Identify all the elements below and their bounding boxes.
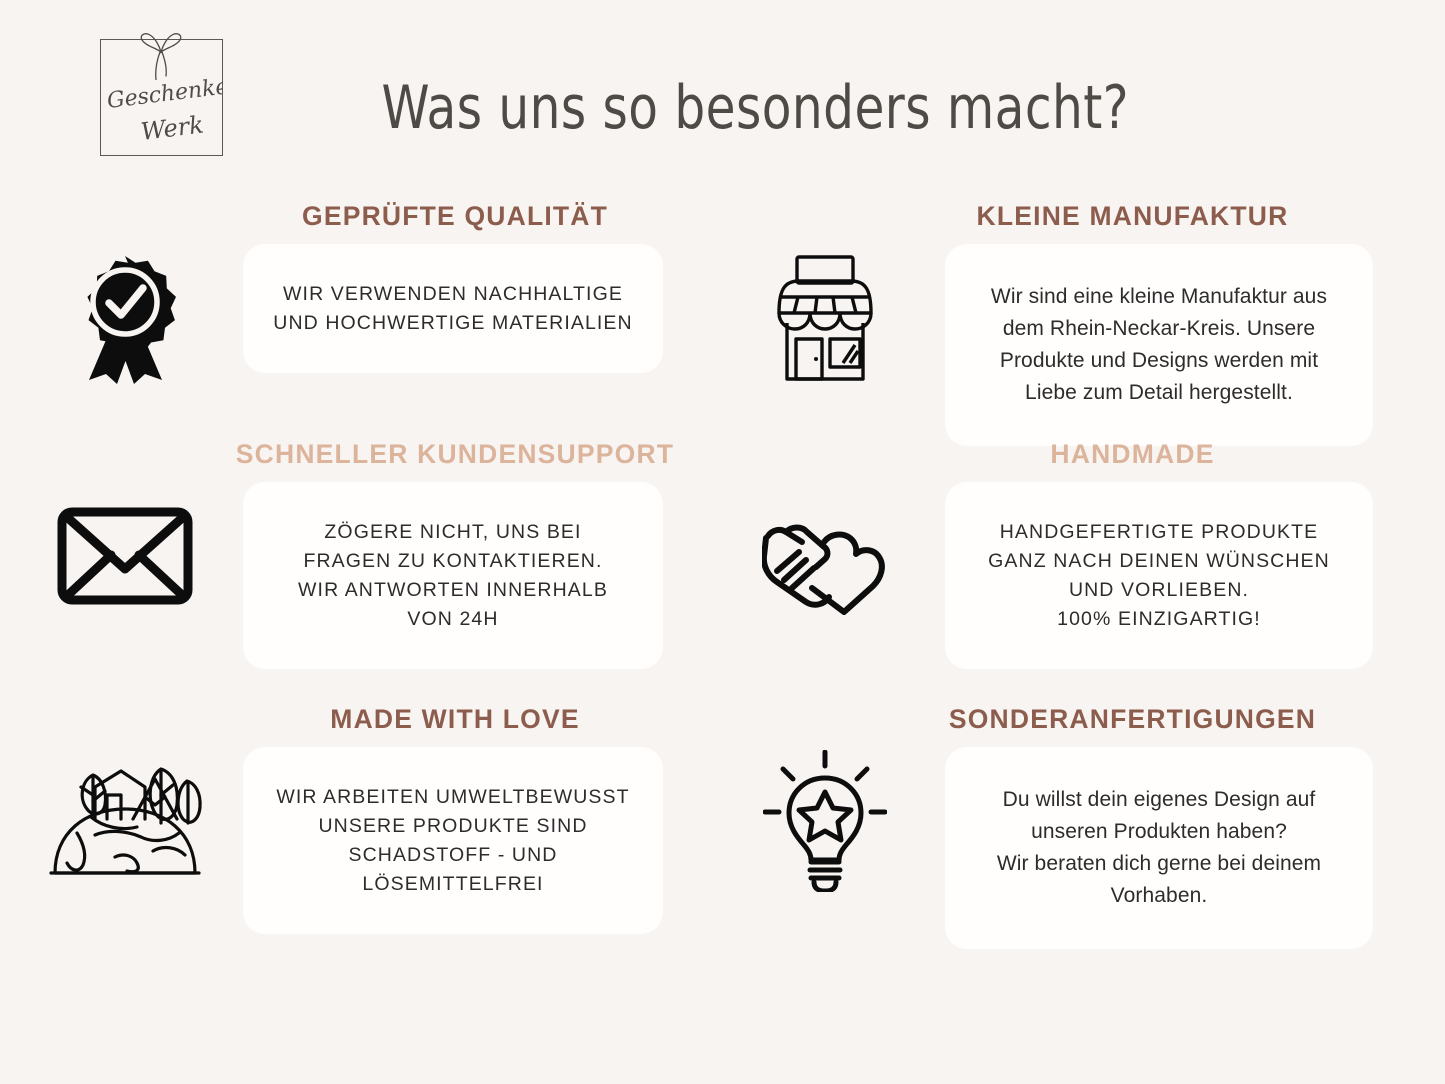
feature-kleine-manufaktur: KLEINE MANUFAKTUR [730,200,1385,392]
logo-text-line-1: Geschenke [106,74,223,114]
feature-card-gepruefte-qualitaet: WIR VERWENDEN NACHHALTIGE UND HOCHWERTIG… [243,244,663,373]
feature-sonderanfertigungen: SONDERANFERTIGUNGEN [730,703,1385,895]
feature-card-sonderanfertigungen: Du willst dein eigenes Design auf unsere… [945,747,1373,949]
features-grid: GEPRÜFTE QUALITÄT WIR VERWENDEN NACHHALT… [0,190,1445,970]
feature-card-made-with-love: WIR ARBEITEN UMWELTBEWUSST UNSERE PRODUK… [243,747,663,934]
feature-body-kleine-manufaktur: Wir sind eine kleine Manufaktur aus dem … [991,281,1327,409]
logo-wordmark: Geschenke Werk [100,58,223,150]
feature-card-schneller-kundensupport: ZÖGERE NICHT, UNS BEI FRAGEN ZU KONTAKTI… [243,482,663,669]
feature-title-made-with-love: MADE WITH LOVE [30,703,685,735]
feature-title-gepruefte-qualitaet: GEPRÜFTE QUALITÄT [30,200,685,232]
feature-body-sonderanfertigungen: Du willst dein eigenes Design auf unsere… [997,784,1321,912]
quality-badge-checkmark-icon [30,244,220,392]
feature-handmade: HANDMADE HANDGEFERTIGT [730,438,1385,630]
page-title: Was uns so besonders macht? [382,74,1129,142]
feature-title-handmade: HANDMADE [730,438,1385,470]
feature-title-kleine-manufaktur: KLEINE MANUFAKTUR [730,200,1385,232]
eco-earth-nature-icon [30,747,220,895]
envelope-mail-icon [30,482,220,630]
logo-text-line-2: Werk [139,110,205,145]
feature-schneller-kundensupport: SCHNELLER KUNDENSUPPORT ZÖGERE NICHT, UN… [30,438,685,630]
brand-logo[interactable]: Geschenke Werk [100,30,225,157]
feature-title-sonderanfertigungen: SONDERANFERTIGUNGEN [730,703,1385,735]
feature-title-schneller-kundensupport: SCHNELLER KUNDENSUPPORT [30,438,685,470]
feature-card-kleine-manufaktur: Wir sind eine kleine Manufaktur aus dem … [945,244,1373,446]
feature-body-schneller-kundensupport: ZÖGERE NICHT, UNS BEI FRAGEN ZU KONTAKTI… [298,518,608,634]
page-header: Geschenke Werk Was uns so besonders mach… [0,0,1445,190]
storefront-shop-icon [730,244,920,392]
feature-gepruefte-qualitaet: GEPRÜFTE QUALITÄT WIR VERWENDEN NACHHALT… [30,200,685,392]
feature-body-handmade: HANDGEFERTIGTE PRODUKTE GANZ NACH DEINEN… [988,518,1330,634]
lightbulb-star-idea-icon [730,747,920,895]
feature-card-handmade: HANDGEFERTIGTE PRODUKTE GANZ NACH DEINEN… [945,482,1373,669]
hand-holding-heart-icon [730,482,920,630]
feature-made-with-love: MADE WITH LOVE [30,703,685,895]
feature-body-gepruefte-qualitaet: WIR VERWENDEN NACHHALTIGE UND HOCHWERTIG… [273,280,632,338]
feature-body-made-with-love: WIR ARBEITEN UMWELTBEWUSST UNSERE PRODUK… [276,783,629,899]
